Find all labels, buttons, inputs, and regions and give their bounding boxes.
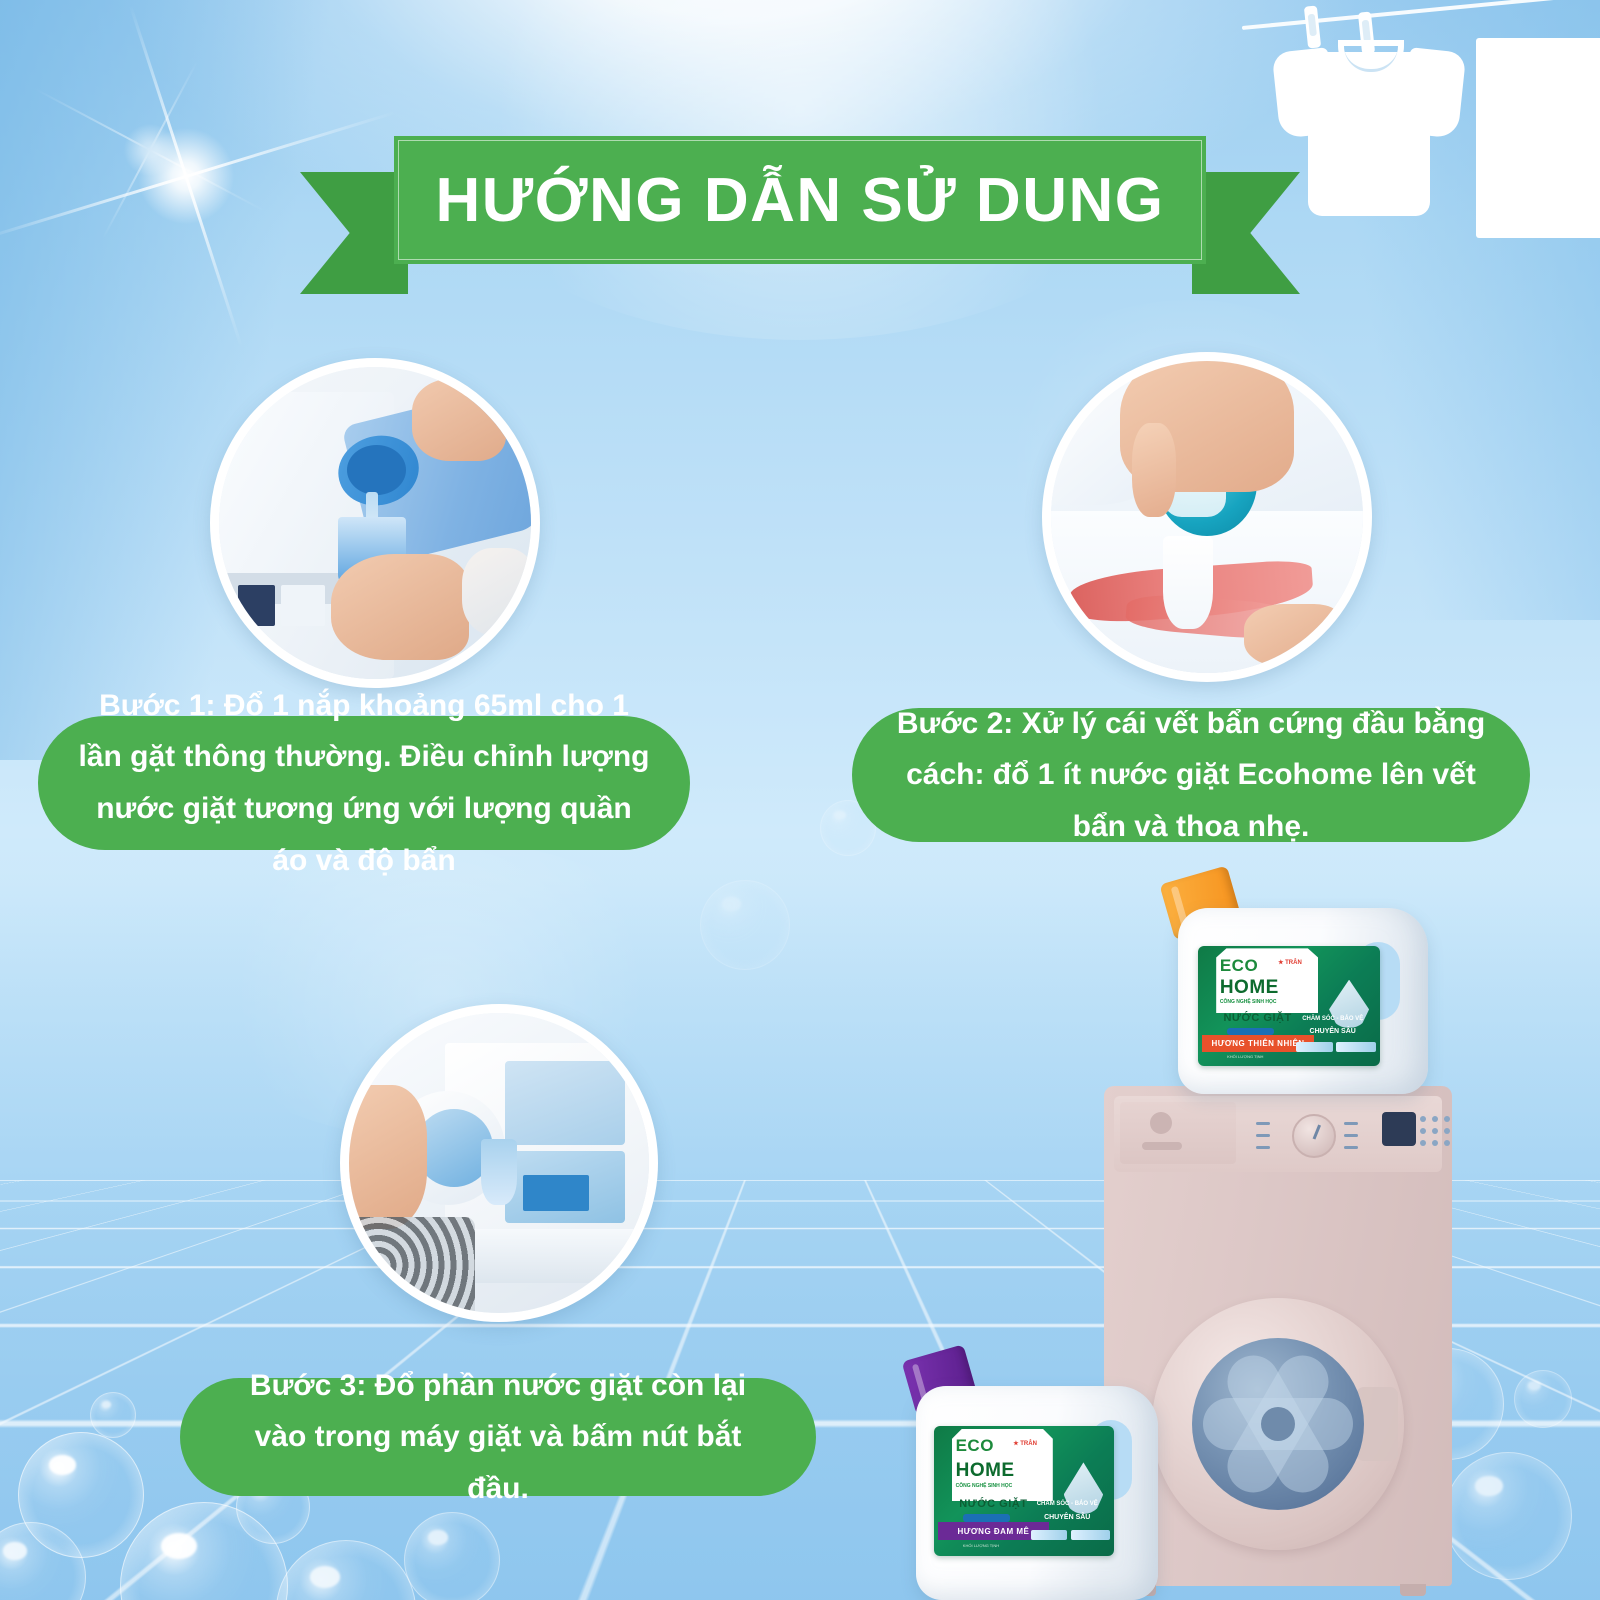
step-2-photo xyxy=(1042,352,1372,682)
claim-chip-left xyxy=(1296,1042,1332,1052)
washer-control-panel xyxy=(1114,1096,1442,1172)
washer-display xyxy=(1382,1112,1416,1146)
brand-tech-text: CÔNG NGHỆ SINH HỌC xyxy=(1220,999,1277,1005)
product-type-chip xyxy=(963,1514,1010,1522)
claim-line-1-text: CHĂM SÓC - BẢO VỆ xyxy=(1293,1016,1373,1022)
step-2-text: Bước 2: Xử lý cái vết bẩn cứng đầu bằng … xyxy=(892,698,1490,853)
brand-eco-text: ECO xyxy=(956,1436,994,1456)
claim-chip-right xyxy=(1071,1530,1111,1540)
ribbon-tail-left xyxy=(300,172,408,294)
brand-home-text: HOME xyxy=(1220,977,1279,999)
clothesline-decoration xyxy=(1248,0,1600,270)
step-1-text-pill: Bước 1: Đổ 1 nắp khoảng 65ml cho 1 lần g… xyxy=(38,716,690,850)
bubble xyxy=(404,1512,500,1600)
bubble xyxy=(1444,1452,1572,1580)
bottle-label: ECO HOME CÔNG NGHỆ SINH HỌC ★ TRÂN NƯỚC … xyxy=(934,1426,1114,1556)
net-weight-text: KHỐI LƯỢNG TỊNH xyxy=(1227,1054,1263,1059)
ribbon-tail-right xyxy=(1192,172,1300,294)
towel-icon xyxy=(1476,38,1600,238)
step-1-text: Bước 1: Đổ 1 nắp khoảng 65ml cho 1 lần g… xyxy=(78,680,650,886)
header-ribbon-banner: HƯỚNG DẪN SỬ DUNG xyxy=(300,120,1300,280)
step-3-photo xyxy=(340,1004,658,1322)
washer-detergent-drawer xyxy=(1120,1102,1236,1164)
tshirt-icon xyxy=(1276,34,1462,216)
washer-door xyxy=(1152,1298,1404,1550)
clothesline-rope xyxy=(1242,0,1600,30)
brand-tech-text: CÔNG NGHỆ SINH HỌC xyxy=(956,1483,1013,1489)
ribbon-plate: HƯỚNG DẪN SỬ DUNG xyxy=(394,136,1206,264)
claim-line-2-text: CHUYÊN SÂU xyxy=(1293,1028,1373,1035)
bubble xyxy=(1514,1370,1572,1428)
step-3-text-pill: Bước 3: Đổ phần nước giặt còn lại vào tr… xyxy=(180,1378,816,1496)
brand-seal-text: ★ TRÂN xyxy=(1013,1440,1037,1447)
washer-program-dial xyxy=(1292,1114,1336,1158)
step-3-photo-image xyxy=(349,1013,649,1313)
product-type-chip xyxy=(1227,1028,1274,1035)
bottle-label: ECO HOME CÔNG NGHỆ SINH HỌC ★ TRÂN NƯỚC … xyxy=(1198,946,1380,1066)
net-weight-text: KHỐI LƯỢNG TỊNH xyxy=(963,1543,999,1548)
claim-line-1-text: CHĂM SÓC - BẢO VỆ xyxy=(1028,1501,1107,1507)
product-type-text: NƯỚC GIẶT xyxy=(959,1498,1027,1510)
brand-seal-text: ★ TRÂN xyxy=(1278,959,1302,966)
step-2-photo-image xyxy=(1051,361,1363,673)
washer-indicator-lights xyxy=(1420,1112,1454,1146)
step-3-text: Bước 3: Đổ phần nước giặt còn lại vào tr… xyxy=(220,1360,776,1515)
bubble xyxy=(700,880,790,970)
product-bottle-natural: ECO HOME CÔNG NGHỆ SINH HỌC ★ TRÂN NƯỚC … xyxy=(1160,868,1428,1094)
step-2-text-pill: Bước 2: Xử lý cái vết bẩn cứng đầu bằng … xyxy=(852,708,1530,842)
fragrance-text: HƯƠNG THIÊN NHIÊN xyxy=(1212,1039,1305,1048)
washer-door-glass xyxy=(1192,1338,1364,1510)
step-1-photo-image xyxy=(219,367,531,679)
brand-eco-text: ECO xyxy=(1220,956,1258,976)
claim-chip-left xyxy=(1031,1530,1067,1540)
fragrance-text: HƯƠNG ĐAM MÊ xyxy=(957,1527,1029,1536)
claim-chip-right xyxy=(1336,1042,1376,1052)
product-bottle-passion: ECO HOME CÔNG NGHỆ SINH HỌC ★ TRÂN NƯỚC … xyxy=(900,1348,1158,1600)
product-type-text: NƯỚC GIẶT xyxy=(1223,1012,1291,1024)
step-1-photo xyxy=(210,358,540,688)
brand-home-text: HOME xyxy=(956,1460,1015,1482)
page-title: HƯỚNG DẪN SỬ DUNG xyxy=(436,165,1165,236)
bubble xyxy=(90,1392,136,1438)
claim-line-2-text: CHUYÊN SÂU xyxy=(1028,1514,1107,1521)
